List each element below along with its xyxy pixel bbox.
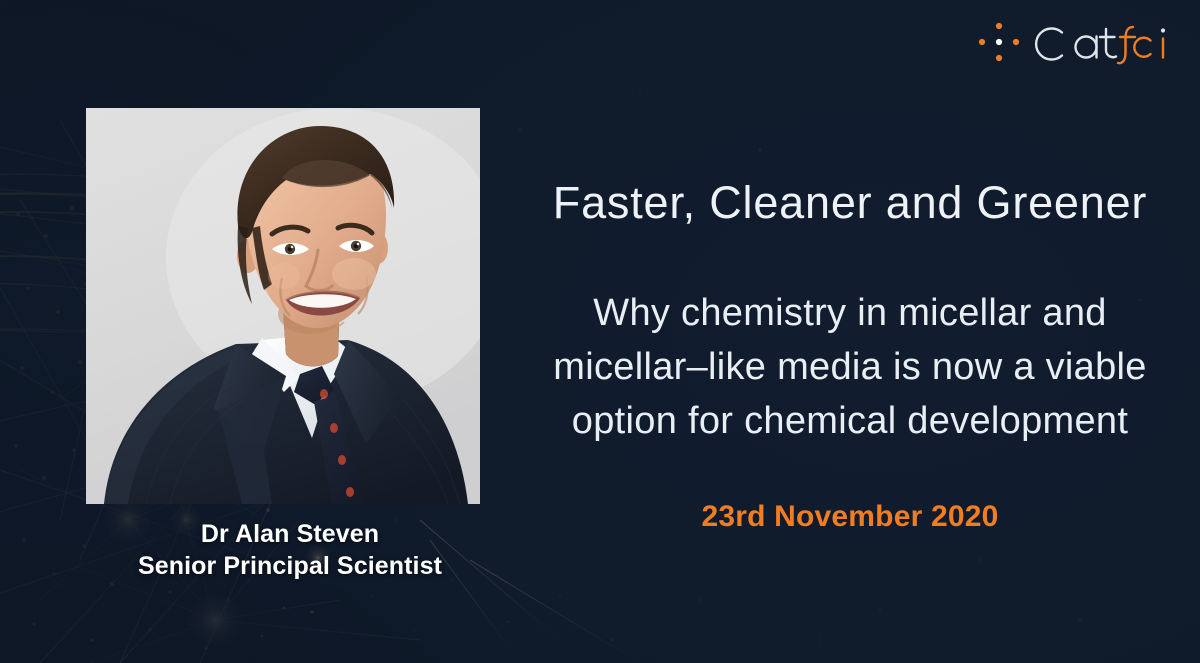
- subtitle-line-1: Why chemistry in micellar and: [520, 287, 1180, 341]
- webinar-promo-slide: Dr Alan Steven Senior Principal Scientis…: [0, 0, 1200, 663]
- speaker-caption: Dr Alan Steven Senior Principal Scientis…: [60, 518, 520, 582]
- webinar-subtitle: Why chemistry in micellar and micellar–l…: [520, 287, 1180, 449]
- logo-dot-bottom: [996, 55, 1002, 61]
- logo-dot-cluster-icon: [976, 20, 1022, 64]
- catsci-logo[interactable]: [976, 14, 1182, 70]
- logo-wordmark-catsci: [1032, 19, 1182, 65]
- subtitle-line-2: micellar–like media is now a viable: [520, 341, 1180, 395]
- logo-dot-right: [1013, 39, 1019, 45]
- webinar-title: Faster, Cleaner and Greener: [520, 178, 1180, 228]
- logo-dot-left: [979, 39, 985, 45]
- webinar-date: 23rd November 2020: [520, 500, 1180, 534]
- logo-dot-top: [996, 23, 1002, 29]
- logo-dot-center: [996, 39, 1002, 45]
- speaker-portrait-illustration: [86, 108, 480, 504]
- speaker-photo: [86, 108, 480, 504]
- speaker-role: Senior Principal Scientist: [60, 550, 520, 582]
- speaker-name: Dr Alan Steven: [60, 518, 520, 550]
- subtitle-line-3: option for chemical development: [520, 395, 1180, 449]
